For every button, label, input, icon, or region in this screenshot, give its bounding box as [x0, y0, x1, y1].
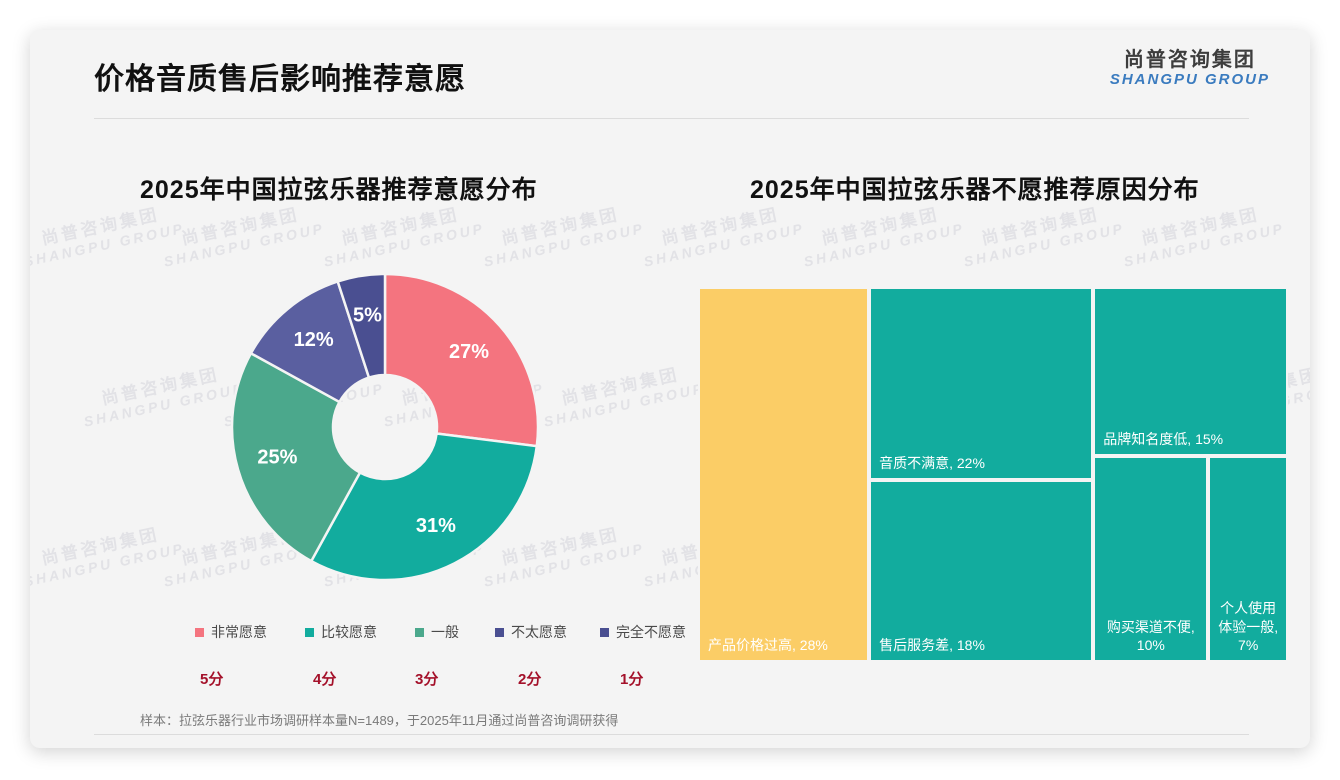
treemap-cell[interactable]: 产品价格过高, 28%: [698, 287, 869, 662]
donut-slice-label: 31%: [416, 515, 456, 537]
sample-footnote: 样本：拉弦乐器行业市场调研样本量N=1489，于2025年11月通过尚普咨询调研…: [140, 710, 618, 729]
legend-item-label: 完全不愿意: [616, 622, 686, 642]
treemap-cell[interactable]: 个人使用体验一般, 7%: [1208, 456, 1288, 662]
treemap-cell-label: 产品价格过高, 28%: [708, 636, 861, 654]
score-label: 3分: [415, 668, 438, 689]
treemap-cell-label: 购买渠道不便, 10%: [1099, 618, 1202, 654]
page-title: 价格音质售后影响推荐意愿: [94, 54, 466, 98]
donut-legend: 非常愿意比较愿意一般不太愿意完全不愿意: [165, 622, 695, 648]
legend-swatch-icon: [600, 628, 609, 637]
score-label: 1分: [620, 668, 643, 689]
treemap-cell[interactable]: 购买渠道不便, 10%: [1093, 456, 1208, 662]
legend-item[interactable]: 完全不愿意: [600, 622, 686, 642]
treemap-cell[interactable]: 品牌知名度低, 15%: [1093, 287, 1288, 456]
legend-item-label: 一般: [431, 622, 459, 642]
right-chart-title: 2025年中国拉弦乐器不愿推荐原因分布: [750, 170, 1200, 206]
legend-swatch-icon: [495, 628, 504, 637]
slide-content: 2025年中国拉弦乐器推荐意愿分布 2025年中国拉弦乐器不愿推荐原因分布 27…: [30, 122, 1310, 682]
treemap-cell-label: 音质不满意, 22%: [879, 454, 1085, 472]
legend-item-label: 不太愿意: [511, 622, 567, 642]
reason-treemap-chart: 产品价格过高, 28%音质不满意, 22%售后服务差, 18%品牌知名度低, 1…: [698, 287, 1288, 662]
score-label: 2分: [518, 668, 541, 689]
brand-logo: 尚普咨询集团 SHANGPU GROUP: [1110, 50, 1270, 88]
legend-swatch-icon: [415, 628, 424, 637]
score-label: 4分: [313, 668, 336, 689]
score-scale-row: 5分4分3分2分1分: [165, 668, 695, 692]
donut-slice-label: 25%: [257, 447, 297, 469]
legend-item[interactable]: 非常愿意: [195, 622, 267, 642]
treemap-cell-label: 个人使用体验一般, 7%: [1214, 599, 1282, 654]
slide-card: 价格音质售后影响推荐意愿 尚普咨询集团 SHANGPU GROUP 尚普咨询集团…: [30, 30, 1310, 748]
legend-swatch-icon: [195, 628, 204, 637]
donut-svg: 27%31%25%12%5%: [205, 247, 565, 607]
left-chart-title: 2025年中国拉弦乐器推荐意愿分布: [140, 170, 538, 206]
legend-item-label: 比较愿意: [321, 622, 377, 642]
logo-chinese-text: 尚普咨询集团: [1110, 50, 1270, 72]
donut-slice[interactable]: [311, 434, 537, 580]
recommendation-donut-chart: 27%31%25%12%5%: [205, 247, 565, 607]
legend-item[interactable]: 不太愿意: [495, 622, 567, 642]
legend-item[interactable]: 比较愿意: [305, 622, 377, 642]
treemap-cell[interactable]: 音质不满意, 22%: [869, 287, 1093, 480]
legend-item-label: 非常愿意: [211, 622, 267, 642]
legend-swatch-icon: [305, 628, 314, 637]
donut-slice-label: 5%: [353, 305, 382, 327]
donut-slice-label: 12%: [294, 329, 334, 351]
slide-footer: ©2026.1 SHANGPU GROUP www.shangpu-china.…: [30, 735, 1310, 748]
treemap-cell-label: 售后服务差, 18%: [879, 636, 1085, 654]
legend-item[interactable]: 一般: [415, 622, 459, 642]
slide-header: 价格音质售后影响推荐意愿 尚普咨询集团 SHANGPU GROUP: [30, 30, 1310, 122]
treemap-cell-label: 品牌知名度低, 15%: [1103, 430, 1280, 448]
donut-slice-label: 27%: [449, 341, 489, 363]
header-divider: [94, 118, 1249, 119]
logo-english-text: SHANGPU GROUP: [1110, 72, 1270, 88]
score-label: 5分: [200, 668, 223, 689]
treemap-cell[interactable]: 售后服务差, 18%: [869, 480, 1093, 662]
